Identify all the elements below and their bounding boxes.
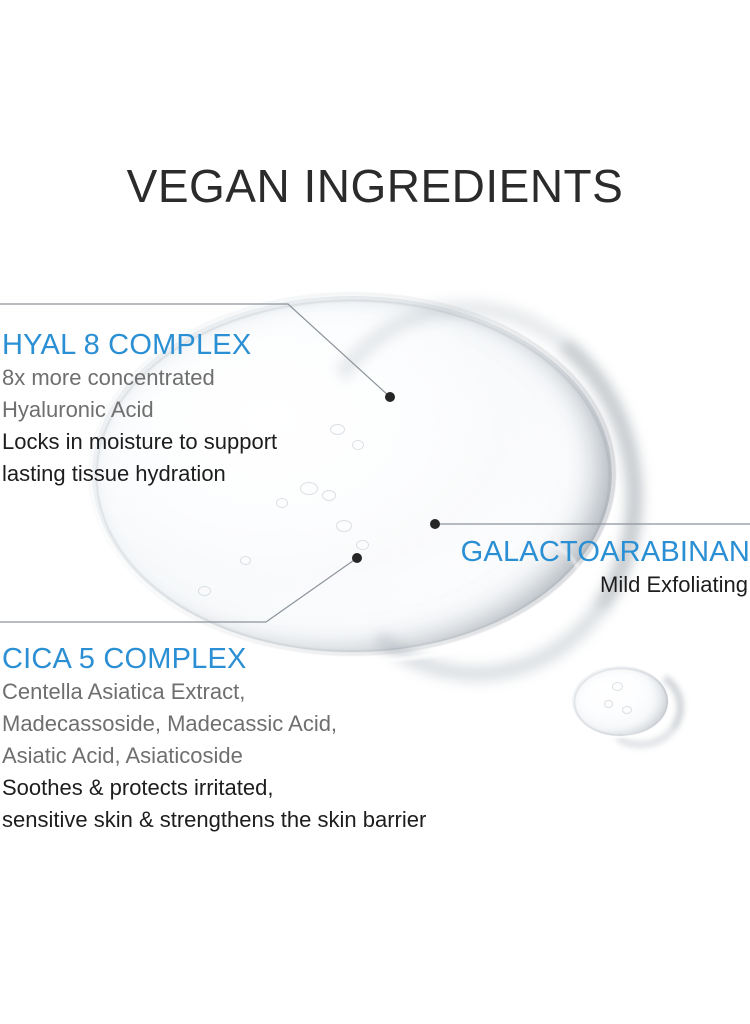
callout-cica5-benefit-line: sensitive skin & strengthens the skin ba…	[2, 804, 426, 836]
infographic-page: VEGAN INGREDIENTS HYAL 8 COMPLEX 8x more…	[0, 0, 750, 1024]
callout-hyal8-ingredient-line: Hyaluronic Acid	[2, 394, 277, 426]
callout-cica5-benefit-line: Soothes & protects irritated,	[2, 772, 426, 804]
leader-lines	[0, 0, 750, 1024]
leader-dot-hyal8	[385, 392, 395, 402]
callout-cica5-heading: CICA 5 COMPLEX	[2, 642, 426, 676]
callout-hyal8-ingredient-line: 8x more concentrated	[2, 362, 277, 394]
page-title: VEGAN INGREDIENTS	[0, 160, 750, 212]
leader-dot-galactoarabinan	[430, 519, 440, 529]
leader-line-cica5	[0, 558, 357, 622]
callout-hyal8-heading: HYAL 8 COMPLEX	[2, 328, 277, 362]
callout-galactoarabinan-heading: GALACTOARABINAN	[461, 535, 750, 569]
callout-galactoarabinan-benefit-line: Mild Exfoliating	[461, 569, 750, 601]
callout-cica5-ingredient-line: Asiatic Acid, Asiaticoside	[2, 740, 426, 772]
callout-galactoarabinan: GALACTOARABINAN Mild Exfoliating	[461, 535, 750, 601]
callout-cica5-ingredient-line: Centella Asiatica Extract,	[2, 676, 426, 708]
callout-cica5-ingredient-line: Madecassoside, Madecassic Acid,	[2, 708, 426, 740]
callout-hyal8-benefit-line: lasting tissue hydration	[2, 458, 277, 490]
callout-hyal8-benefit-line: Locks in moisture to support	[2, 426, 277, 458]
callout-cica5: CICA 5 COMPLEX Centella Asiatica Extract…	[2, 642, 426, 836]
callout-hyal8: HYAL 8 COMPLEX 8x more concentrated Hyal…	[2, 328, 277, 490]
leader-dot-cica5	[352, 553, 362, 563]
